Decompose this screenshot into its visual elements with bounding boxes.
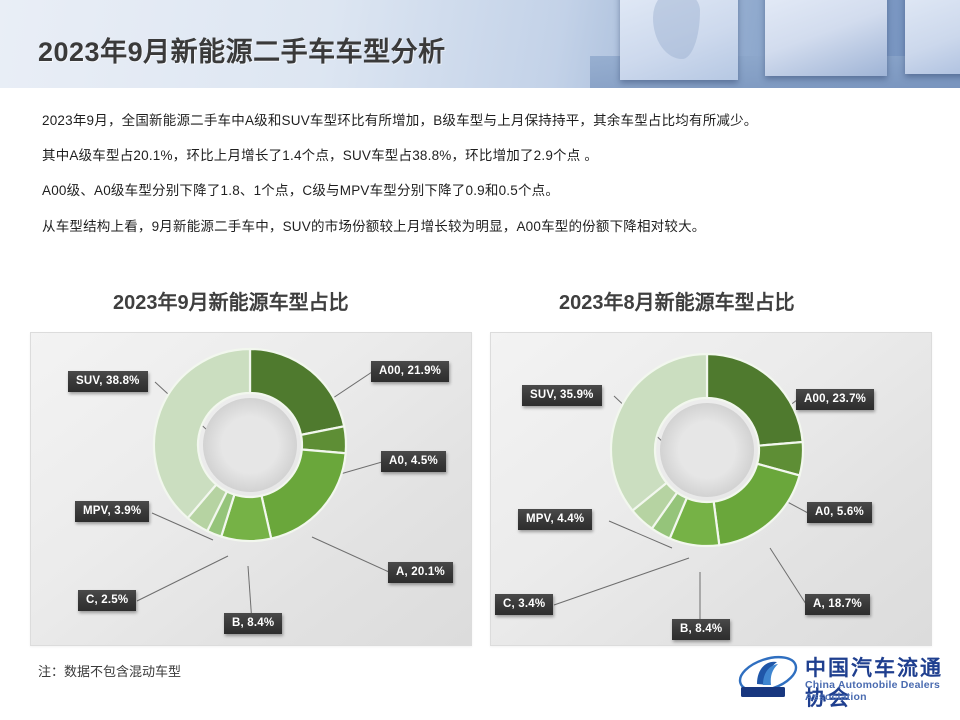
- summary-text-block: 2023年9月，全国新能源二手车中A级和SUV车型环比有所增加，B级车型与上月保…: [42, 112, 922, 253]
- donut-svg-august: [607, 350, 807, 550]
- paragraph-4: 从车型结构上看，9月新能源二手车中，SUV的市场份额较上月增长较为明显，A00车…: [42, 218, 922, 236]
- callout-right-b: B, 8.4%: [672, 619, 730, 640]
- callout-right-mpv: MPV, 4.4%: [518, 509, 592, 530]
- donut-chart-september: [150, 345, 350, 545]
- page-header: 2023年9月新能源二手车车型分析: [0, 0, 960, 88]
- cada-logo-abbr: CADA: [743, 686, 773, 696]
- callout-right-a: A, 18.7%: [805, 594, 870, 615]
- footnote: 注：数据不包含混动车型: [38, 661, 181, 680]
- header-cube-decoration-2: [765, 0, 887, 76]
- header-cube-decoration-3: [905, 0, 960, 74]
- callout-left-mpv: MPV, 3.9%: [75, 501, 149, 522]
- callout-left-a: A, 20.1%: [388, 562, 453, 583]
- callout-right-c: C, 3.4%: [495, 594, 553, 615]
- paragraph-3: A00级、A0级车型分别下降了1.8、1个点，C级与MPV车型分别下降了0.9和…: [42, 182, 922, 200]
- paragraph-1: 2023年9月，全国新能源二手车中A级和SUV车型环比有所增加，B级车型与上月保…: [42, 112, 922, 130]
- cada-logo-english-name: China Automobile Dealers Association: [805, 679, 943, 703]
- header-cube-decoration-1: [620, 0, 738, 80]
- cada-logo: CADA 中国汽车流通协会 China Automobile Dealers A…: [737, 652, 943, 704]
- callout-right-a00: A00, 23.7%: [796, 389, 874, 410]
- chart-title-august: 2023年8月新能源车型占比: [559, 286, 795, 315]
- paragraph-2: 其中A级车型占20.1%，环比上月增长了1.4个点，SUV车型占38.8%，环比…: [42, 147, 922, 165]
- callout-left-c: C, 2.5%: [78, 590, 136, 611]
- page-title: 2023年9月新能源二手车车型分析: [38, 30, 446, 69]
- donut-chart-august: [607, 350, 807, 550]
- callout-left-a00: A00, 21.9%: [371, 361, 449, 382]
- callout-right-a0: A0, 5.6%: [807, 502, 872, 523]
- callout-left-b: B, 8.4%: [224, 613, 282, 634]
- chart-title-september: 2023年9月新能源车型占比: [113, 286, 349, 315]
- callout-left-a0: A0, 4.5%: [381, 451, 446, 472]
- callout-left-suv: SUV, 38.8%: [68, 371, 148, 392]
- callout-right-suv: SUV, 35.9%: [522, 385, 602, 406]
- donut-svg-september: [150, 345, 350, 545]
